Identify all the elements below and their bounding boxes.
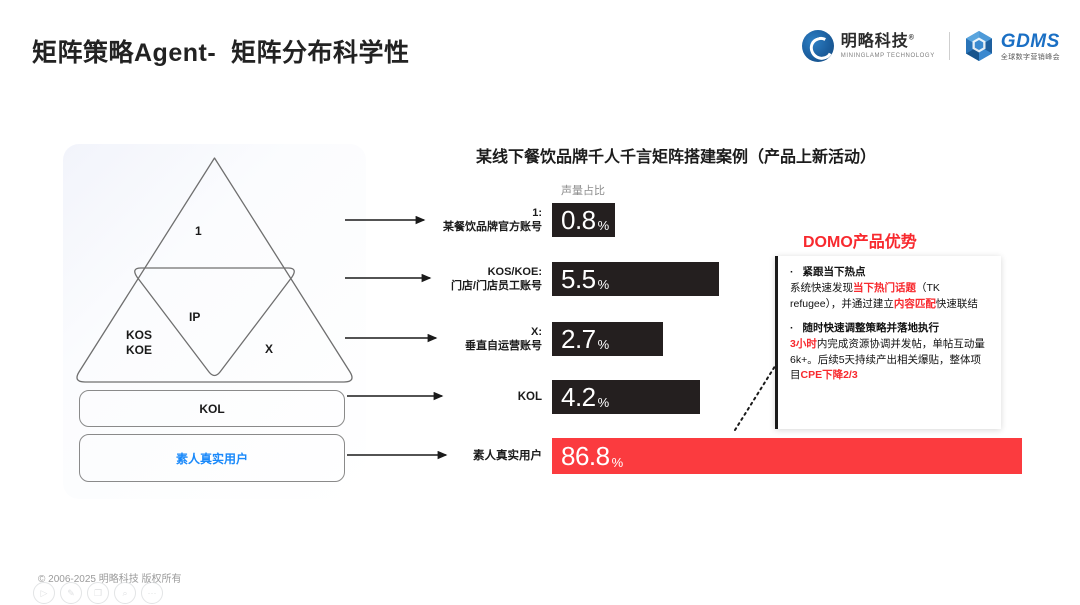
callout-seg-1-4: 快速联结 [936, 298, 978, 310]
callout-bullet-heading-1: ·紧跟当下热点 [790, 265, 991, 280]
pyramid-band-real-users: 素人真实用户 [79, 434, 345, 482]
bar-x: 2.7% [552, 322, 663, 356]
chart-row-kos-koe: KOS/KOE: 门店/门店员工账号 5.5% [440, 259, 719, 299]
tool-dock[interactable]: ▷ ✎ ❐ ⌕ ··· [33, 582, 163, 604]
chart-row-official: 1: 某餐饮品牌官方账号 0.8% [440, 200, 615, 240]
bar-unit-kol: % [598, 395, 610, 410]
chart-title: 某线下餐饮品牌千人千言矩阵搭建案例（产品上新活动） [476, 143, 876, 167]
pen-icon[interactable]: ✎ [60, 582, 82, 604]
bar-value-real-users: 86.8 [561, 443, 610, 469]
copy-icon[interactable]: ❐ [87, 582, 109, 604]
callout-seg-2-0: 3小时 [790, 338, 817, 350]
more-icon[interactable]: ··· [141, 582, 163, 604]
bar-value-kos-koe: 5.5 [561, 266, 596, 292]
bar-label-x: X: 垂直自运营账号 [440, 325, 552, 353]
gdms-logo: GDMS 全球数字营销峰会 [964, 30, 1060, 62]
bar-kos-koe: 5.5% [552, 262, 719, 296]
bullet-marker-icon: · [790, 266, 794, 278]
brand-logos: 明略科技® MININGLAMP TECHNOLOGY GDMS 全球数字营销峰… [802, 30, 1060, 62]
callout-seg-1-1: 当下热门话题 [853, 282, 916, 294]
bar-value-official: 0.8 [561, 207, 596, 233]
bar-label-kos-koe: KOS/KOE: 门店/门店员工账号 [440, 265, 552, 293]
search-icon[interactable]: ⌕ [114, 582, 136, 604]
pyramid-panel: 1 IP KOS KOE X KOL 素人真实用户 [63, 144, 366, 499]
callout-title: DOMO产品优势 [803, 228, 917, 252]
mingluo-name-en: MININGLAMP TECHNOLOGY [841, 53, 935, 59]
bar-kol: 4.2% [552, 380, 700, 414]
callout-seg-1-3: 内容匹配 [894, 298, 936, 310]
callout-body-2: 3小时内完成资源协调并发帖，单帖互动量6k+。后续5天持续产出相关爆贴，整体项目… [790, 337, 991, 384]
pyramid-inner-label: IP [189, 310, 200, 324]
bar-real-users: 86.8% [552, 438, 1022, 474]
registered-mark: ® [909, 34, 915, 41]
pyramid-triangle: 1 IP KOS KOE X [68, 150, 361, 388]
play-icon[interactable]: ▷ [33, 582, 55, 604]
bar-label-real-users: 素人真实用户 [440, 449, 552, 463]
gdms-name-cn: 全球数字营销峰会 [1001, 54, 1060, 61]
bar-label-official: 1: 某餐饮品牌官方账号 [440, 206, 552, 234]
mingluo-mark-icon [802, 30, 834, 62]
mingluo-logo: 明略科技® MININGLAMP TECHNOLOGY [802, 30, 935, 62]
bar-official: 0.8% [552, 203, 615, 237]
gdms-hexagon-icon [964, 30, 994, 62]
callout-seg-1-0: 系统快速发现 [790, 282, 853, 294]
bar-unit-official: % [598, 218, 610, 233]
callout-heading-text-2: 随时快速调整策略并落地执行 [803, 322, 940, 334]
bullet-marker-icon-2: · [790, 322, 794, 334]
pyramid-left-label: KOS KOE [126, 328, 152, 358]
chart-row-real-users: 素人真实用户 86.8% [440, 436, 1022, 476]
chart-row-x: X: 垂直自运营账号 2.7% [440, 319, 663, 359]
callout-heading-text-1: 紧跟当下热点 [803, 266, 866, 278]
bar-unit-real-users: % [612, 455, 624, 470]
callout-spacer [790, 312, 991, 321]
pyramid-apex-label: 1 [195, 224, 202, 238]
callout-seg-2-2: CPE下降2/3 [801, 369, 858, 381]
bar-value-x: 2.7 [561, 326, 596, 352]
bar-value-kol: 4.2 [561, 384, 596, 410]
page-title: 矩阵策略Agent- 矩阵分布科学性 [32, 33, 410, 69]
mingluo-name-cn: 明略科技 [841, 33, 909, 50]
brand-divider [949, 32, 950, 60]
callout-box: ·紧跟当下热点 系统快速发现当下热门话题（TK refugee），并通过建立内容… [775, 256, 1001, 429]
callout-bullet-heading-2: ·随时快速调整策略并落地执行 [790, 321, 991, 336]
bar-unit-x: % [598, 337, 610, 352]
bar-label-kol: KOL [440, 390, 552, 404]
callout-body-1: 系统快速发现当下热门话题（TK refugee），并通过建立内容匹配快速联结 [790, 281, 991, 312]
chart-subtitle: 声量占比 [561, 182, 605, 198]
bar-unit-kos-koe: % [598, 277, 610, 292]
pyramid-right-label: X [265, 342, 273, 356]
gdms-name-en: GDMS [1001, 32, 1060, 51]
pyramid-band-kol: KOL [79, 390, 345, 427]
chart-row-kol: KOL 4.2% [440, 377, 700, 417]
